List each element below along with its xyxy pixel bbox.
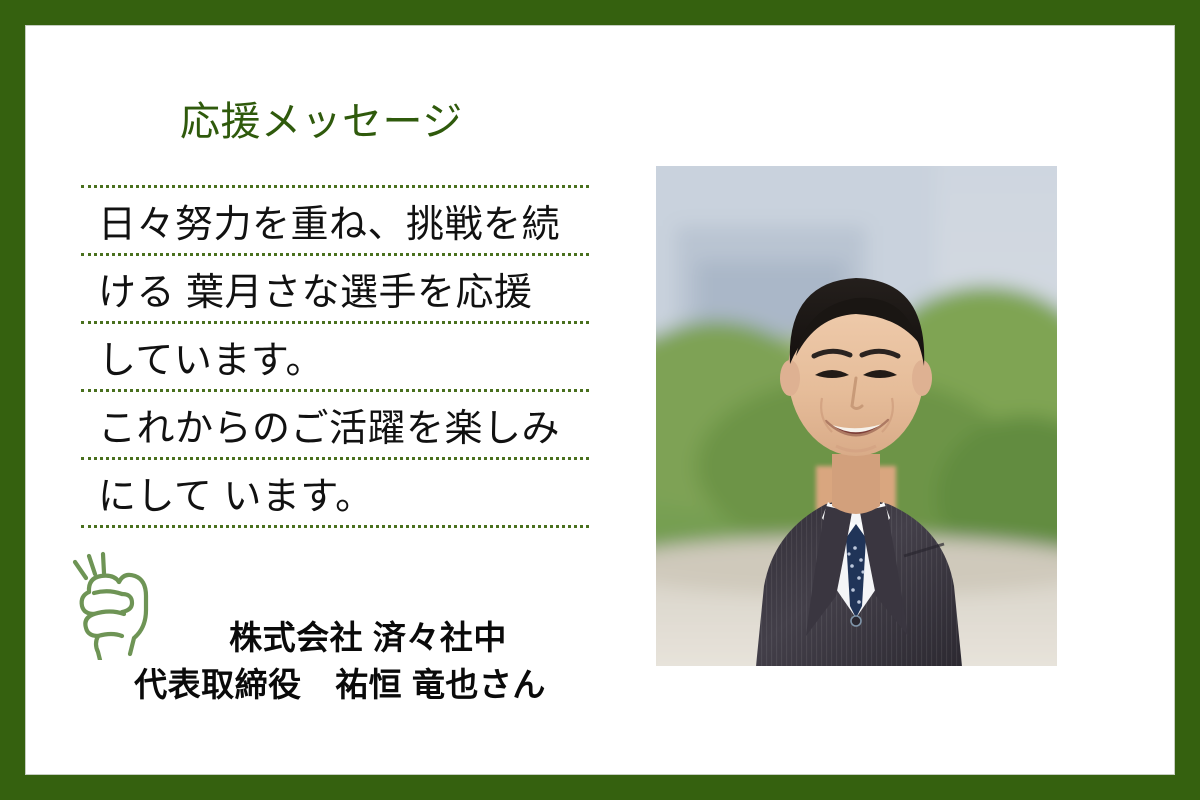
- signature-company: 株式会社 済々社中: [60, 615, 620, 662]
- message-column: 応援メッセージ 日々努力を重ね、挑戦を続 ける 葉月さな選手を応援 しています。…: [60, 60, 620, 740]
- page-title: 応援メッセージ: [180, 102, 463, 142]
- support-message-card: 応援メッセージ 日々努力を重ね、挑戦を続 ける 葉月さな選手を応援 しています。…: [0, 0, 1200, 800]
- signature-person: 代表取締役 祐恒 竜也さん: [60, 662, 620, 709]
- message-ruled-block: 日々努力を重ね、挑戦を続 ける 葉月さな選手を応援 しています。 これからのご活…: [81, 185, 589, 528]
- message-line: これからのご活躍を楽しみ: [81, 392, 589, 457]
- message-line: しています。: [81, 324, 589, 389]
- portrait-photo: [656, 166, 1057, 666]
- signature-block: 株式会社 済々社中 代表取締役 祐恒 竜也さん: [60, 615, 620, 709]
- rule-line: [81, 525, 589, 528]
- message-line: ける 葉月さな選手を応援: [81, 256, 589, 321]
- message-line: 日々努力を重ね、挑戦を続: [81, 188, 589, 253]
- message-line: にして います。: [81, 460, 589, 525]
